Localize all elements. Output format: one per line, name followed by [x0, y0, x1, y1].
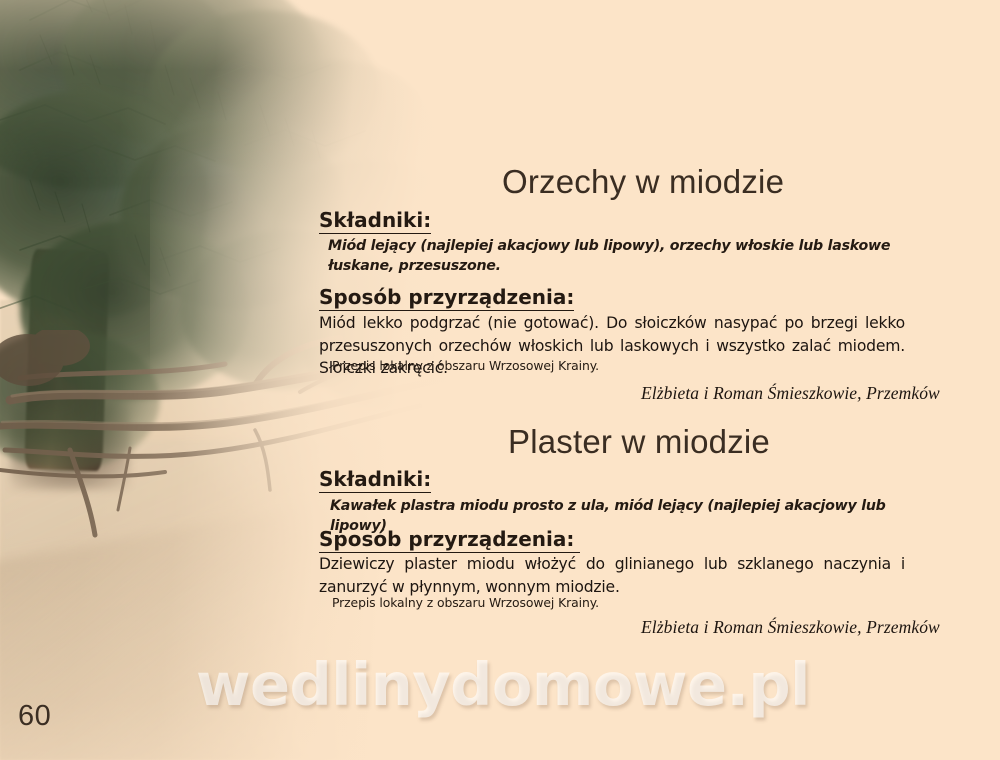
recipe-title: Orzechy w miodzie	[502, 163, 784, 201]
ingredients-heading: Składniki:	[319, 209, 431, 234]
recipe-attribution: Elżbieta i Roman Śmieszkowie, Przemków	[641, 383, 940, 404]
ingredients-text: Miód lejący (najlepiej akacjowy lub lipo…	[328, 236, 920, 276]
recipe-content: Orzechy w miodzie Składniki: Miód lejący…	[0, 0, 1000, 760]
recipe-source-note: Przepis lokalny z obszaru Wrzosowej Krai…	[332, 595, 599, 610]
method-text: Dziewiczy plaster miodu włożyć do glinia…	[319, 553, 905, 598]
method-heading: Sposób przyrządzenia:	[319, 286, 574, 311]
recipe-title: Plaster w miodzie	[508, 423, 770, 461]
book-page: wedlinydomowe.pl 60 Orzechy w miodzie Sk…	[0, 0, 1000, 760]
recipe-source-note: Przepis lokalny z obszaru Wrzosowej Krai…	[332, 358, 599, 373]
recipe-attribution: Elżbieta i Roman Śmieszkowie, Przemków	[641, 617, 940, 638]
ingredients-heading: Składniki:	[319, 468, 431, 493]
method-heading: Sposób przyrządzenia:	[319, 528, 580, 553]
